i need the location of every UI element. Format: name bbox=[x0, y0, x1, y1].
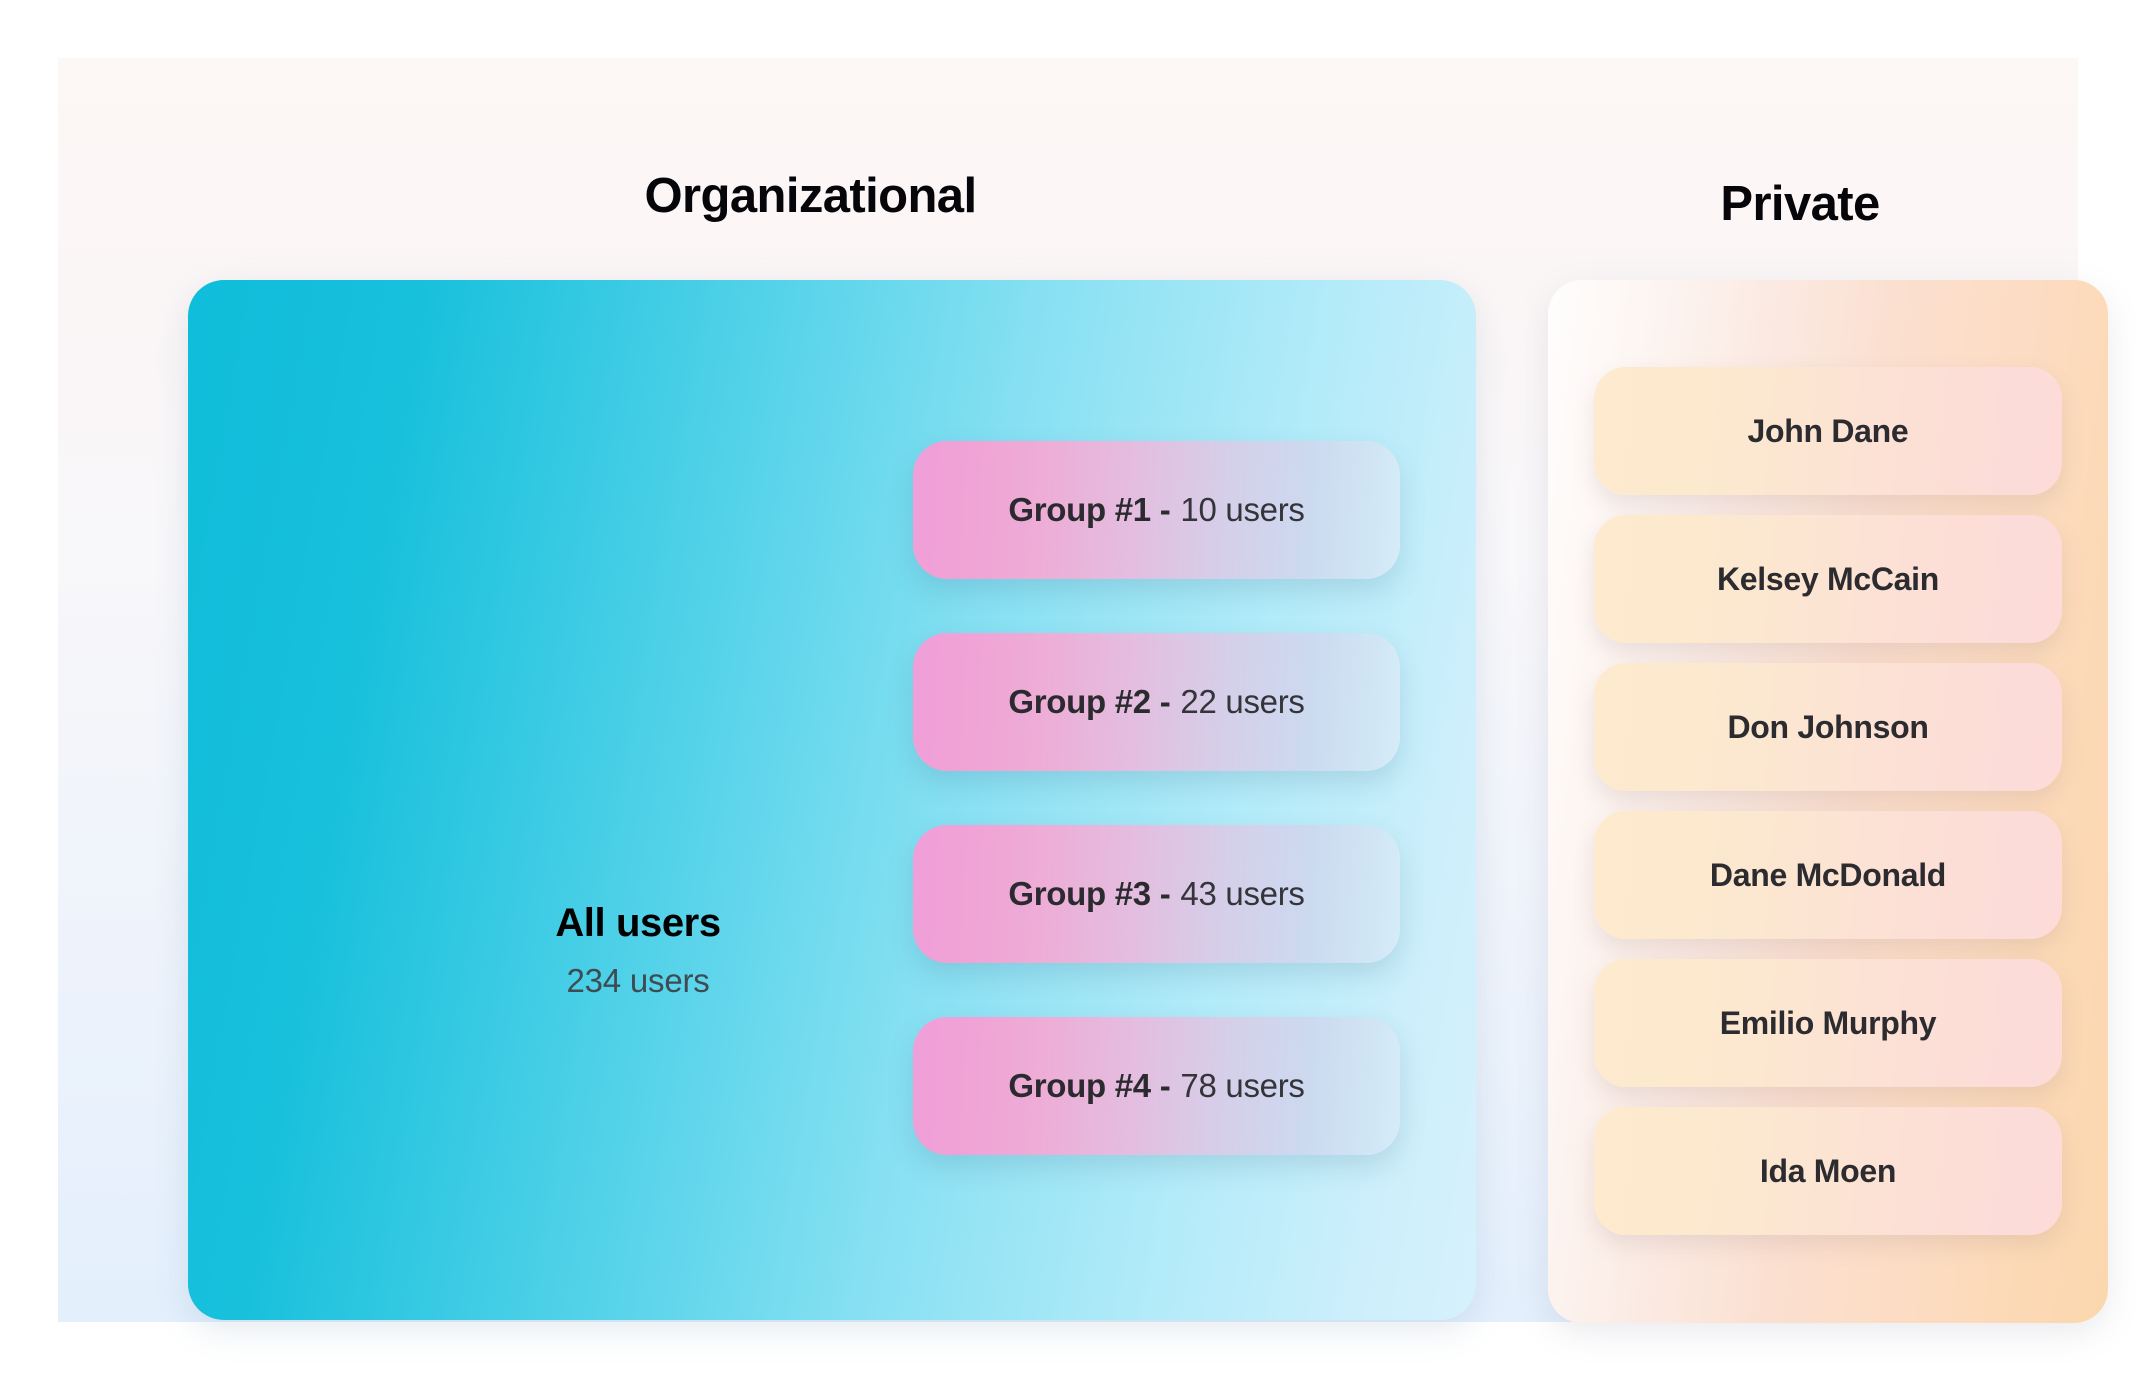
private-member-name: Emilio Murphy bbox=[1720, 1005, 1937, 1042]
group-pill-name: Group #1 - bbox=[1008, 491, 1170, 528]
private-member-pill[interactable]: Emilio Murphy bbox=[1594, 959, 2062, 1087]
organizational-column-title: Organizational bbox=[58, 168, 1563, 224]
group-pill-count: 78 users bbox=[1180, 1067, 1304, 1104]
group-pill[interactable]: Group #2 -22 users bbox=[913, 633, 1400, 771]
group-pill[interactable]: Group #3 -43 users bbox=[913, 825, 1400, 963]
all-users-count: 234 users bbox=[368, 962, 908, 1000]
group-pill-count: 10 users bbox=[1180, 491, 1304, 528]
private-member-pill[interactable]: Kelsey McCain bbox=[1594, 515, 2062, 643]
group-pill[interactable]: Group #1 -10 users bbox=[913, 441, 1400, 579]
group-pill-name: Group #2 - bbox=[1008, 683, 1170, 720]
private-panel[interactable]: John Dane Kelsey McCain Don Johnson Dane… bbox=[1548, 280, 2108, 1323]
group-pill-text: Group #4 -78 users bbox=[1008, 1067, 1304, 1105]
private-member-pill[interactable]: John Dane bbox=[1594, 367, 2062, 495]
group-pill-text: Group #2 -22 users bbox=[1008, 683, 1304, 721]
private-member-pill[interactable]: Ida Moen bbox=[1594, 1107, 2062, 1235]
private-column-title: Private bbox=[1490, 176, 2110, 232]
group-pill-name: Group #3 - bbox=[1008, 875, 1170, 912]
private-member-name: Don Johnson bbox=[1727, 709, 1928, 746]
private-member-pill[interactable]: Dane McDonald bbox=[1594, 811, 2062, 939]
group-pill-count: 22 users bbox=[1180, 683, 1304, 720]
organizational-panel[interactable]: All users 234 users Group #1 -10 users G… bbox=[188, 280, 1476, 1320]
private-member-name: John Dane bbox=[1748, 413, 1909, 450]
private-member-name: Dane McDonald bbox=[1710, 857, 1946, 894]
diagram-card: Organizational Private All users 234 use… bbox=[58, 58, 2078, 1322]
private-member-name: Ida Moen bbox=[1760, 1153, 1896, 1190]
group-pill[interactable]: Group #4 -78 users bbox=[913, 1017, 1400, 1155]
private-member-pill[interactable]: Don Johnson bbox=[1594, 663, 2062, 791]
group-pill-name: Group #4 - bbox=[1008, 1067, 1170, 1104]
private-member-name: Kelsey McCain bbox=[1717, 561, 1939, 598]
group-pill-text: Group #3 -43 users bbox=[1008, 875, 1304, 913]
all-users-label: All users bbox=[368, 900, 908, 946]
group-pill-count: 43 users bbox=[1180, 875, 1304, 912]
group-pill-text: Group #1 -10 users bbox=[1008, 491, 1304, 529]
all-users-block[interactable]: All users 234 users bbox=[368, 900, 908, 1000]
